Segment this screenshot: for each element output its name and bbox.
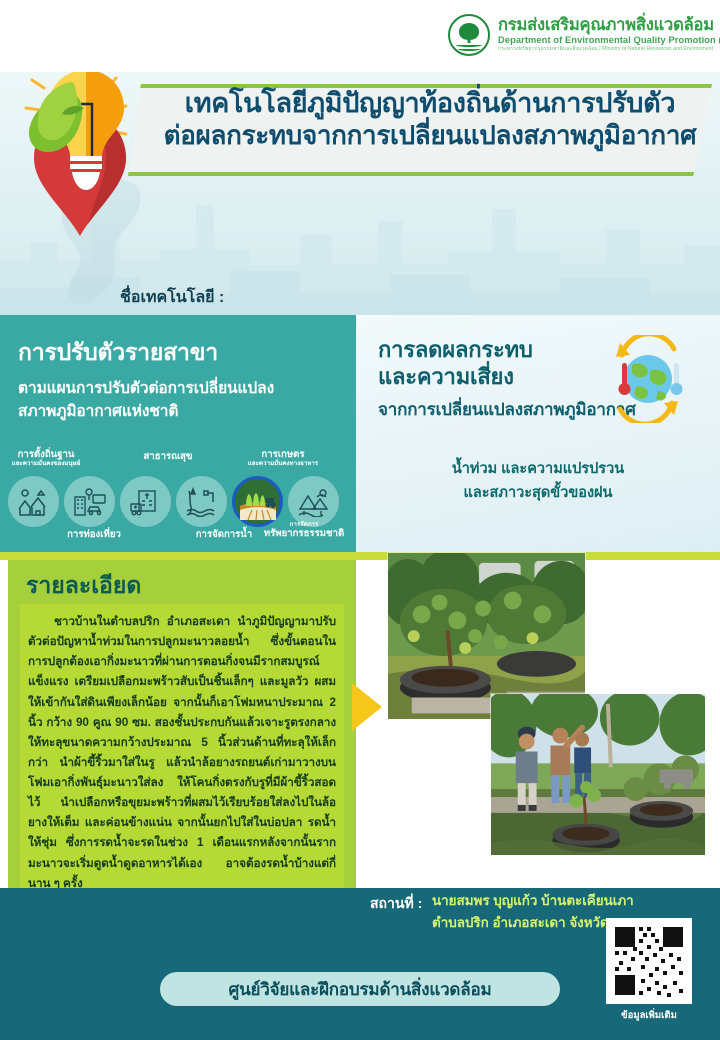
details-heading: รายละเอียด (26, 568, 141, 604)
sector-label-settlement: การตั้งถิ่นฐาน และความมั่นคงของมนุษย์ (0, 450, 94, 467)
header-band: กรมส่งเสริมคุณภาพสิ่งแวดล้อม Department … (0, 0, 720, 72)
poster-title-line2: ต่อผลกระทบจากการเปลี่ยนแปลงสภาพภูมิอากาศ (150, 120, 710, 151)
natural-resources-mountain-icon[interactable] (288, 476, 339, 527)
sector-label-public-health: สาธารณสุข (122, 452, 214, 463)
settlement-houses-icon[interactable] (8, 476, 59, 527)
title-zone: เทคโนโลยีภูมิปัญญาท้องถิ่นด้านการปรับตัว… (0, 72, 720, 315)
impact-line-2: และสภาวะสุดขั้วของฝน (356, 482, 720, 506)
center-name-pill: ศูนย์วิจัยและฝึกอบรมด้านสิ่งแวดล้อม (160, 972, 560, 1006)
agriculture-field-icon[interactable] (232, 476, 283, 527)
qr-caption: ข้อมูลเพิ่มเติม (606, 1008, 692, 1023)
qr-code-icon[interactable] (606, 918, 692, 1004)
public-health-hospital-icon[interactable] (120, 476, 171, 527)
poster-title-line1: เทคโนโลยีภูมิปัญญาท้องถิ่นด้านการปรับตัว (150, 88, 710, 120)
tree-water-emblem-icon (448, 14, 490, 56)
org-name-english: Department of Environmental Quality Prom… (498, 36, 720, 46)
adaptation-panel: การปรับตัวรายสาขา ตามแผนการปรับตัวต่อการ… (0, 315, 356, 560)
details-block: รายละเอียด ชาวบ้านในตำบลปริก อำเภอสะเดา … (8, 560, 356, 935)
place-line-1: นายสมพร บุญแก้ว บ้านตะเคียนเภา (432, 890, 648, 912)
place-label: สถานที่ : (370, 893, 422, 915)
impact-line-1: น้ำท่วม และความแปรปรวน (356, 458, 720, 482)
villagers-at-fish-pond-photo (490, 693, 706, 856)
sector-icon-group: การตั้งถิ่นฐาน และความมั่นคงของมนุษย์ สา… (0, 450, 356, 560)
tourism-city-car-icon[interactable] (64, 476, 115, 527)
lightbulb-leaf-map-pin-icon (14, 72, 150, 250)
org-name-thai: กรมส่งเสริมคุณภาพสิ่งแวดล้อม (498, 17, 720, 34)
globe-thermometer-cycle-icon (598, 335, 694, 423)
adaptation-heading: การปรับตัวรายสาขา (18, 335, 356, 371)
center-name-text: ศูนย์วิจัยและฝึกอบรมด้านสิ่งแวดล้อม (229, 976, 492, 1003)
poster-root: กรมส่งเสริมคุณภาพสิ่งแวดล้อม Department … (0, 0, 720, 1040)
mitigation-panel: การลดผลกระทบ และความเสี่ยง จากการเปลี่ยน… (356, 315, 720, 560)
details-body-text: ชาวบ้านในตำบลปริก อำเภอสะเดา นำภูมิปัญญา… (20, 604, 344, 926)
sector-label-natural-resources: การจัดการ ทรัพยากรธรรมชาติ (252, 522, 356, 539)
water-management-tap-icon[interactable] (176, 476, 227, 527)
adaptation-sub-line2: สภาพภูมิอากาศแห่งชาติ (18, 400, 356, 423)
technology-label: ชื่อเทคโนโลยี : (120, 285, 224, 310)
sector-label-agriculture: การเกษตร และความมั่นคงทางอาหาร (232, 450, 334, 467)
sector-label-tourism: การท่องเที่ยว (44, 530, 144, 541)
deqp-logo: กรมส่งเสริมคุณภาพสิ่งแวดล้อม Department … (448, 14, 720, 56)
org-ministry-line: กระทรวงทรัพยากรธรรมชาติและสิ่งแวดล้อม | … (498, 47, 720, 52)
photo-gallery (356, 548, 720, 888)
adaptation-sub-line1: ตามแผนการปรับตัวต่อการเปลี่ยนแปลง (18, 377, 356, 400)
